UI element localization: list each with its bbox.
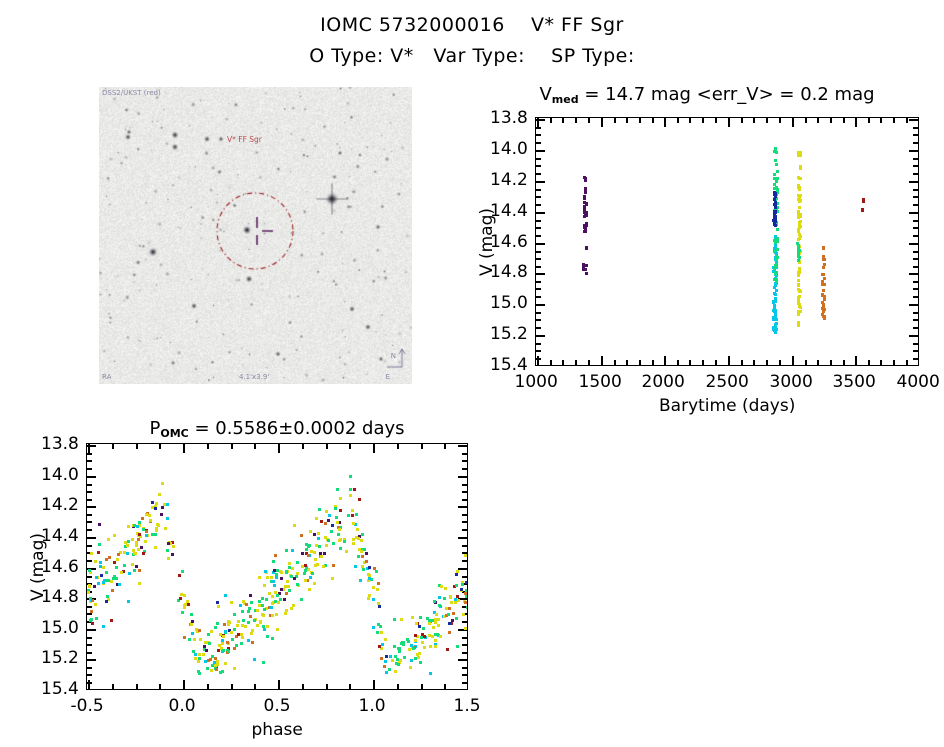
x-axis-minor-tick [843, 360, 845, 365]
y-axis-minor-tick [462, 644, 467, 646]
data-point [95, 617, 98, 620]
y-axis-minor-tick [462, 576, 467, 578]
y-axis-minor-tick [87, 468, 92, 470]
data-point [213, 661, 216, 664]
data-point [221, 642, 224, 645]
data-point [303, 572, 306, 575]
y-axis-minor-tick [536, 158, 541, 160]
data-point [798, 233, 801, 236]
y-axis-minor-tick [536, 266, 541, 268]
y-axis-minor-tick [87, 484, 92, 486]
x-axis-tick-label: -0.5 [71, 696, 104, 716]
vmed-subscript: med [552, 93, 579, 106]
data-point [394, 670, 397, 673]
data-point [336, 521, 339, 524]
barytime-plot-frame[interactable] [535, 117, 919, 366]
data-point [183, 606, 186, 609]
data-point [465, 589, 468, 592]
data-point [444, 587, 447, 590]
data-point [367, 579, 370, 582]
y-axis-tick [87, 537, 96, 539]
x-axis-minor-tick [830, 118, 832, 123]
data-point [115, 566, 118, 569]
data-point [284, 612, 287, 615]
field-size-label: 4.1'x3.9' [239, 373, 269, 381]
x-axis-minor-tick [843, 118, 845, 123]
data-point [105, 600, 108, 603]
data-point [135, 565, 138, 568]
x-axis-tick [373, 444, 375, 453]
x-axis-minor-tick [421, 684, 423, 689]
data-point [181, 570, 184, 573]
data-point [277, 601, 280, 604]
data-point [137, 538, 140, 541]
data-point [141, 517, 144, 520]
period-value: = 0.5586±0.0002 days [189, 418, 405, 439]
data-point [797, 213, 800, 216]
data-point [211, 655, 214, 658]
y-axis-minor-tick [536, 251, 541, 253]
data-point [239, 604, 242, 607]
y-axis-minor-tick [462, 652, 467, 654]
data-point [347, 514, 350, 517]
data-point [308, 588, 311, 591]
y-axis-tick [536, 212, 545, 214]
x-axis-tick [855, 356, 857, 365]
data-point [274, 600, 277, 603]
x-axis-minor-tick [562, 118, 564, 123]
data-point [352, 542, 355, 545]
y-axis-tick-label: 14.0 [41, 465, 79, 485]
data-point [280, 588, 283, 591]
data-point [242, 600, 245, 603]
x-axis-tick-label: 2500 [706, 372, 749, 392]
data-point [219, 671, 222, 674]
y-axis-minor-tick [462, 545, 467, 547]
data-point [250, 601, 253, 604]
data-point [585, 247, 588, 250]
data-point [236, 624, 239, 627]
data-point [349, 475, 352, 478]
x-axis-minor-tick [326, 444, 328, 449]
y-axis-tick-label: 14.0 [490, 139, 528, 159]
data-point [450, 601, 453, 604]
y-axis-minor-tick [913, 235, 918, 237]
y-axis-minor-tick [462, 674, 467, 676]
data-point [224, 630, 227, 633]
data-point [365, 552, 368, 555]
data-point [421, 641, 424, 644]
y-axis-tick [536, 243, 545, 245]
y-axis-tick [909, 119, 918, 121]
data-point [797, 228, 800, 231]
magnitude-stats-line: Vmed = 14.7 mag <err_V> = 0.2 mag [470, 84, 944, 111]
data-point [349, 494, 352, 497]
data-point [276, 569, 279, 572]
y-axis-minor-tick [87, 521, 92, 523]
data-point [242, 619, 245, 622]
data-point [110, 619, 113, 622]
data-point [136, 525, 139, 528]
data-point [305, 548, 308, 551]
data-point [393, 618, 396, 621]
y-axis-minor-tick [536, 235, 541, 237]
data-point [171, 553, 174, 556]
data-point [90, 552, 93, 555]
data-point [822, 303, 825, 306]
data-point [823, 315, 826, 318]
y-axis-tick [536, 335, 545, 337]
data-point [320, 555, 323, 558]
y-axis-tick-label: 15.4 [490, 355, 528, 375]
data-point [221, 639, 224, 642]
data-point [432, 626, 435, 629]
y-axis-minor-tick [462, 484, 467, 486]
data-point [428, 619, 431, 622]
data-point [357, 555, 360, 558]
data-point [126, 552, 129, 555]
x-axis-tick [183, 680, 185, 689]
data-point [145, 530, 148, 533]
data-point [111, 589, 114, 592]
data-point [190, 623, 193, 626]
x-axis-minor-tick [112, 444, 114, 449]
data-point [377, 582, 380, 585]
x-axis-minor-tick [349, 684, 351, 689]
data-point [325, 544, 328, 547]
data-point [439, 635, 442, 638]
y-axis-minor-tick [913, 281, 918, 283]
y-axis-minor-tick [536, 327, 541, 329]
y-axis-minor-tick [462, 682, 467, 684]
x-axis-minor-tick [741, 360, 743, 365]
data-point [797, 216, 800, 219]
phase-plot-title: POMC = 0.5586±0.0002 days [86, 418, 468, 445]
y-axis-tick-label: 15.2 [490, 324, 528, 344]
data-point [160, 513, 163, 516]
x-axis-minor-tick [588, 118, 590, 123]
data-point [773, 198, 776, 201]
data-point [368, 577, 371, 580]
data-point [464, 592, 467, 595]
data-point [110, 580, 113, 583]
data-point [324, 536, 327, 539]
data-point [261, 597, 264, 600]
data-point [339, 547, 342, 550]
data-point [102, 566, 105, 569]
data-point [460, 588, 463, 591]
dss-finding-chart[interactable]: DSS2/UKST (red) V* FF Sgr RA 4.1'x3.9' N… [99, 87, 412, 384]
data-point [352, 522, 355, 525]
data-point [349, 488, 352, 491]
y-axis-minor-tick [536, 173, 541, 175]
data-point [198, 657, 201, 660]
data-point [310, 550, 313, 553]
data-point [774, 315, 777, 318]
data-point [419, 616, 422, 619]
data-point [775, 163, 778, 166]
x-axis-tick-label: 1.5 [454, 696, 481, 716]
data-point [293, 524, 296, 527]
data-point [412, 647, 415, 650]
barytime-x-axis-title: Barytime (days) [659, 396, 795, 416]
data-point [108, 556, 111, 559]
data-point [94, 560, 97, 563]
y-axis-minor-tick [87, 453, 92, 455]
y-axis-tick [458, 506, 467, 508]
data-point [325, 510, 328, 513]
y-axis-minor-tick [913, 319, 918, 321]
data-point [457, 599, 460, 602]
data-point [443, 597, 446, 600]
data-point [372, 598, 375, 601]
y-axis-minor-tick [536, 288, 541, 290]
y-axis-tick [458, 659, 467, 661]
x-axis-tick [728, 118, 730, 127]
data-point [261, 604, 264, 607]
data-point [311, 572, 314, 575]
data-point [291, 549, 294, 552]
data-point [798, 295, 801, 298]
data-point [204, 641, 207, 644]
data-point [774, 159, 777, 162]
data-point [322, 565, 325, 568]
data-point [199, 638, 202, 641]
data-point [461, 583, 464, 586]
y-axis-minor-tick [913, 296, 918, 298]
x-axis-minor-tick [805, 118, 807, 123]
x-axis-minor-tick [326, 684, 328, 689]
y-axis-minor-tick [913, 196, 918, 198]
data-point [258, 600, 261, 603]
data-point [217, 649, 220, 652]
data-point [774, 331, 777, 334]
data-point [583, 211, 586, 214]
data-point [280, 577, 283, 580]
data-point [233, 667, 236, 670]
data-point [411, 616, 414, 619]
data-point [584, 191, 587, 194]
data-point [233, 647, 236, 650]
x-axis-tick-label: 1500 [579, 372, 622, 392]
x-axis-minor-tick [639, 360, 641, 365]
data-point [429, 672, 432, 675]
data-point [438, 596, 441, 599]
y-axis-tick [458, 537, 467, 539]
data-point [797, 283, 800, 286]
data-point [124, 541, 127, 544]
data-point [222, 649, 225, 652]
x-axis-minor-tick [588, 360, 590, 365]
data-point [327, 539, 330, 542]
y-axis-minor-tick [536, 127, 541, 129]
data-point [158, 493, 161, 496]
data-point [797, 151, 800, 154]
data-point [179, 597, 182, 600]
data-point [773, 223, 776, 226]
data-point [172, 545, 175, 548]
data-point [338, 528, 341, 531]
data-point [251, 629, 254, 632]
y-axis-tick-label: 14.8 [41, 587, 79, 607]
data-point [384, 638, 387, 641]
header-title-block: IOMC 5732000016 V* FF Sgr O Type: V* Var… [0, 12, 944, 69]
y-axis-tick-label: 15.4 [41, 679, 79, 699]
data-point [434, 639, 437, 642]
y-axis-minor-tick [536, 343, 541, 345]
y-axis-tick [536, 181, 545, 183]
data-point [403, 656, 406, 659]
x-axis-tick-label: 4000 [897, 372, 940, 392]
y-axis-tick [87, 629, 96, 631]
y-axis-minor-tick [462, 491, 467, 493]
data-point [247, 610, 250, 613]
y-axis-minor-tick [87, 682, 92, 684]
data-point [227, 650, 230, 653]
data-point [148, 514, 151, 517]
data-point [823, 298, 826, 301]
data-point [584, 230, 587, 233]
y-axis-minor-tick [913, 127, 918, 129]
phase-plot-frame[interactable] [86, 443, 468, 690]
data-point [345, 550, 348, 553]
y-axis-minor-tick [87, 460, 92, 462]
y-axis-tick-label: 15.0 [41, 618, 79, 638]
data-point [207, 659, 210, 662]
x-axis-minor-tick [575, 118, 577, 123]
data-point [309, 530, 312, 533]
data-point [216, 601, 219, 604]
x-axis-tick-label: 3500 [833, 372, 876, 392]
data-point [414, 657, 417, 660]
x-axis-minor-tick [817, 118, 819, 123]
data-point [296, 561, 299, 564]
y-axis-tick-label: 14.4 [490, 201, 528, 221]
data-point [822, 310, 825, 313]
y-axis-minor-tick [913, 220, 918, 222]
y-axis-minor-tick [87, 514, 92, 516]
data-point [339, 538, 342, 541]
data-point [133, 552, 136, 555]
y-axis-minor-tick [87, 529, 92, 531]
data-point [393, 645, 396, 648]
data-point [207, 633, 210, 636]
data-point [327, 519, 330, 522]
data-point [466, 606, 468, 609]
y-axis-minor-tick [913, 266, 918, 268]
data-point [332, 542, 335, 545]
data-point [331, 577, 334, 580]
data-point [389, 655, 392, 658]
x-axis-minor-tick [562, 360, 564, 365]
x-axis-tick [664, 118, 666, 127]
data-point [266, 625, 269, 628]
data-point [296, 583, 299, 586]
data-point [464, 554, 467, 557]
data-point [287, 585, 290, 588]
data-point [145, 534, 148, 537]
data-point [465, 595, 468, 598]
y-axis-tick [909, 181, 918, 183]
data-point [131, 538, 134, 541]
data-point [233, 628, 236, 631]
data-point [102, 625, 105, 628]
x-axis-minor-tick [868, 118, 870, 123]
data-point [318, 545, 321, 548]
data-point [115, 577, 118, 580]
x-axis-minor-tick [715, 118, 717, 123]
data-point [775, 237, 778, 240]
x-axis-tick [792, 118, 794, 127]
data-point [583, 264, 586, 267]
data-point [240, 642, 243, 645]
x-axis-tick-label: 0.5 [264, 696, 291, 716]
data-point [206, 667, 209, 670]
data-point [90, 618, 93, 621]
data-point [216, 663, 219, 666]
data-point [445, 607, 448, 610]
data-point [773, 210, 776, 213]
data-point [216, 622, 219, 625]
data-point [797, 210, 800, 213]
data-point [194, 653, 197, 656]
x-axis-minor-tick [421, 444, 423, 449]
y-axis-minor-tick [536, 319, 541, 321]
x-axis-minor-tick [444, 684, 446, 689]
y-axis-minor-tick [87, 674, 92, 676]
data-point [100, 574, 103, 577]
data-point [272, 580, 275, 583]
data-point [434, 621, 437, 624]
data-point [773, 187, 776, 190]
data-point [456, 570, 459, 573]
data-point [772, 219, 775, 222]
data-point [775, 151, 778, 154]
data-point [862, 198, 865, 201]
y-axis-minor-tick [913, 189, 918, 191]
data-point [154, 533, 157, 536]
data-point [396, 658, 399, 661]
data-point [103, 579, 106, 582]
data-point [270, 606, 273, 609]
y-axis-minor-tick [536, 165, 541, 167]
data-point [285, 549, 288, 552]
data-point [423, 635, 426, 638]
data-point [117, 553, 120, 556]
data-point [265, 598, 268, 601]
data-point [456, 645, 459, 648]
data-point [248, 607, 251, 610]
data-point [154, 546, 157, 549]
data-point [120, 571, 123, 574]
data-point [219, 633, 222, 636]
data-point [335, 516, 338, 519]
data-point [383, 665, 386, 668]
data-point [138, 582, 141, 585]
data-point [448, 631, 451, 634]
x-axis-minor-tick [614, 360, 616, 365]
data-point [797, 313, 800, 316]
x-axis-tick-label: 2000 [642, 372, 685, 392]
data-point [428, 634, 431, 637]
y-axis-minor-tick [913, 142, 918, 144]
x-axis-minor-tick [349, 444, 351, 449]
x-axis-minor-tick [575, 360, 577, 365]
data-point [339, 509, 342, 512]
data-point [230, 601, 233, 604]
data-point [203, 645, 206, 648]
y-axis-minor-tick [462, 453, 467, 455]
